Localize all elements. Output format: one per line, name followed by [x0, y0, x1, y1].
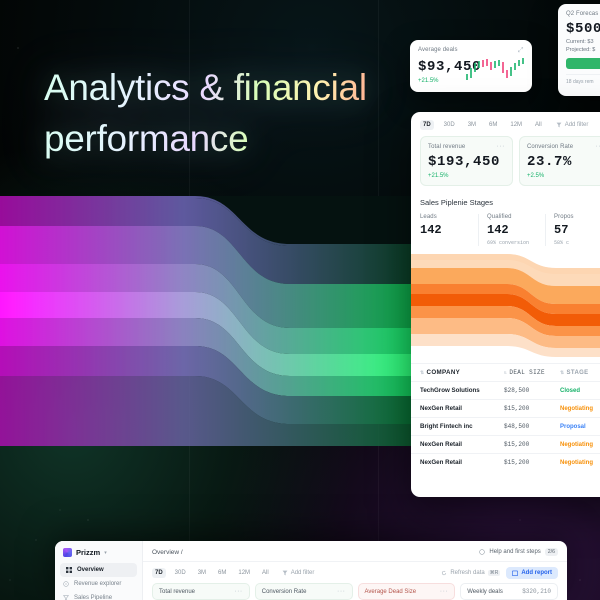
sort-icon: ⇅: [420, 370, 425, 376]
stage-label: Leads: [420, 214, 470, 220]
kpi-value: 23.7%: [527, 154, 600, 170]
help-button[interactable]: Help and first steps 2/6: [479, 548, 558, 556]
sidebar-item-label: Overview: [77, 567, 104, 573]
q2-forecast-title: Q2 Forecas: [566, 11, 600, 17]
kpi-label: Conversion Rate: [527, 144, 573, 150]
app-actionbar: 7D 30D 3M 6M 12M All Add filter: [143, 562, 567, 583]
q2-projected: Projected: $: [566, 47, 600, 53]
cell-company: NexGen Retail: [420, 441, 504, 448]
chevron-down-icon[interactable]: ▾: [104, 550, 107, 556]
weekly-deals-card[interactable]: Weekly deals $320,210: [460, 583, 558, 600]
stream-chart: [411, 252, 600, 357]
app-filter-pill-3m[interactable]: 3M: [195, 568, 209, 578]
funnel-icon: [556, 122, 562, 128]
app-add-filter-button[interactable]: Add filter: [282, 570, 315, 576]
funnel-icon: [63, 595, 69, 600]
refresh-shortcut: ⌘R: [488, 570, 501, 576]
filter-pill-30d[interactable]: 30D: [441, 120, 458, 130]
filter-pill-12m[interactable]: 12M: [507, 120, 525, 130]
app-kpi-label: Average Dead Size: [365, 589, 417, 595]
cell-deal-size: $28,500: [504, 387, 560, 394]
sidebar-item-sales-pipeline[interactable]: Sales Pipeline: [55, 591, 142, 600]
app-filter-pill-all[interactable]: All: [259, 568, 272, 578]
stage-label: Qualified: [487, 214, 537, 220]
filter-pill-7d[interactable]: 7D: [420, 120, 434, 130]
cell-deal-size: $15,200: [504, 405, 560, 412]
cell-stage: Negotiating: [560, 442, 600, 448]
cell-deal-size: $15,200: [504, 441, 560, 448]
breadcrumb[interactable]: Overview /: [152, 549, 183, 556]
app-kpi-label: Conversion Rate: [262, 589, 307, 595]
add-filter-label: Add filter: [565, 122, 589, 128]
table-row[interactable]: NexGen Retail $15,200 Negotiating: [411, 399, 600, 417]
kpi-change: +2.5%: [527, 173, 600, 179]
filter-pill-6m[interactable]: 6M: [486, 120, 500, 130]
column-header-deal-size[interactable]: ⇅DEAL SIZE: [504, 369, 560, 376]
panel-filter-bar: 7D 30D 3M 6M 12M All Add filter: [411, 112, 600, 136]
sidebar-item-label: Sales Pipeline: [74, 595, 112, 600]
stage-value: 142: [487, 223, 537, 237]
q2-days-remaining: 18 days rem: [566, 74, 600, 85]
table-row[interactable]: NexGen Retail $15,200 Negotiating: [411, 453, 600, 471]
gradient-ribbon-graphic: [0, 196, 420, 446]
app-filter-pill-6m[interactable]: 6M: [215, 568, 229, 578]
more-icon[interactable]: ···: [337, 588, 346, 595]
app-main: Overview / Help and first steps 2/6 7D 3…: [143, 541, 567, 600]
kpi-conversion-rate[interactable]: Conversion Rate ··· 23.7% +2.5%: [519, 136, 600, 186]
cell-company: NexGen Retail: [420, 405, 504, 412]
q2-forecast-card[interactable]: Q2 Forecas $500,0 Current: $3 Projected:…: [558, 4, 600, 96]
help-label: Help and first steps: [489, 549, 540, 555]
filter-pill-all[interactable]: All: [532, 120, 545, 130]
cell-deal-size: $48,500: [504, 423, 560, 430]
stage-conversion: 58% c: [554, 240, 600, 246]
table-header-row: ⇅COMPANY ⇅DEAL SIZE ⇅STAGE: [411, 363, 600, 381]
pipeline-stages-section: Sales Piplenie Stages Leads 142 Qualifie…: [411, 194, 600, 246]
add-filter-button[interactable]: Add filter: [556, 122, 589, 128]
cell-company: NexGen Retail: [420, 459, 504, 466]
stage-qualified: Qualified 142 69% conversion: [479, 214, 546, 246]
app-sidebar: Prizzm ▾ Overview Revenue explorer: [55, 541, 143, 600]
cell-company: TechGrow Solutions: [420, 387, 504, 394]
filter-pill-3m[interactable]: 3M: [465, 120, 479, 130]
compass-icon: [63, 581, 69, 587]
q2-progress-bar: [566, 58, 600, 69]
candlestick-chart: [464, 54, 526, 84]
page-title: Analytics & financial performance: [44, 62, 404, 164]
cell-deal-size: $15,200: [504, 459, 560, 466]
pipeline-stages-title: Sales Piplenie Stages: [420, 198, 600, 207]
cell-company: Bright Fintech inc: [420, 423, 504, 430]
weekly-deals-value: $320,210: [522, 588, 551, 595]
more-icon[interactable]: ···: [440, 588, 449, 595]
average-deals-label: Average deals: [418, 47, 458, 53]
stage-value: 142: [420, 223, 470, 237]
brand-switcher[interactable]: Prizzm ▾: [55, 541, 142, 563]
help-circle-icon: [479, 549, 485, 555]
add-report-button[interactable]: Add report: [506, 567, 558, 579]
cell-stage: Proposal: [560, 424, 600, 430]
column-header-company[interactable]: ⇅COMPANY: [420, 369, 504, 376]
add-report-label: Add report: [521, 570, 552, 576]
analytics-panel: 7D 30D 3M 6M 12M All Add filter Total re…: [411, 112, 600, 497]
more-icon[interactable]: ···: [497, 143, 506, 150]
grid-icon: [66, 567, 72, 573]
refresh-label: Refresh data: [450, 570, 484, 576]
kpi-label: Total revenue: [428, 144, 465, 150]
app-window: Prizzm ▾ Overview Revenue explorer: [55, 541, 567, 600]
table-row[interactable]: Bright Fintech inc $48,500 Proposal: [411, 417, 600, 435]
stage-value: 57: [554, 223, 600, 237]
more-icon[interactable]: ···: [596, 143, 600, 150]
stage-conversion: 69% conversion: [487, 240, 537, 246]
app-kpi-label: Total revenue: [159, 589, 195, 595]
kpi-value: $193,450: [428, 154, 505, 170]
sidebar-item-label: Revenue explorer: [74, 581, 121, 587]
app-filter-pill-7d[interactable]: 7D: [152, 568, 166, 578]
weekly-deals-label: Weekly deals: [467, 589, 503, 595]
calendar-plus-icon: [512, 570, 518, 576]
sidebar-item-overview[interactable]: Overview: [60, 563, 137, 577]
kpi-row: Total revenue ··· $193,450 +21.5% Conver…: [411, 136, 600, 194]
deals-table: ⇅COMPANY ⇅DEAL SIZE ⇅STAGE TechGrow Solu…: [411, 363, 600, 471]
app-filter-bar: 7D 30D 3M 6M 12M All Add filter: [152, 568, 314, 578]
stage-label: Propos: [554, 214, 600, 220]
app-kpi-total-revenue[interactable]: Total revenue ···: [152, 583, 250, 600]
page-stage: Analytics & financial performance: [0, 0, 600, 600]
more-icon[interactable]: ···: [234, 588, 243, 595]
cell-stage: Negotiating: [560, 460, 600, 466]
average-deals-card[interactable]: Average deals ⤢ $93,450 +21.5%: [410, 40, 532, 92]
sort-icon: ⇅: [560, 370, 565, 376]
app-kpi-conversion-rate[interactable]: Conversion Rate ···: [255, 583, 353, 600]
refresh-icon: [441, 570, 447, 576]
prizzm-logo-icon: [63, 548, 72, 557]
help-progress-count: 2/6: [545, 548, 558, 556]
cell-stage: Negotiating: [560, 406, 600, 412]
app-kpi-average-dead-size[interactable]: Average Dead Size ···: [358, 583, 456, 600]
kpi-total-revenue[interactable]: Total revenue ··· $193,450 +21.5%: [420, 136, 513, 186]
table-row[interactable]: TechGrow Solutions $28,500 Closed: [411, 381, 600, 399]
sort-icon: ⇅: [504, 370, 507, 376]
brand-name: Prizzm: [76, 548, 100, 557]
app-topbar: Overview / Help and first steps 2/6: [143, 541, 567, 562]
refresh-data-button[interactable]: Refresh data ⌘R: [441, 570, 500, 576]
funnel-icon: [282, 570, 288, 576]
table-row[interactable]: NexGen Retail $15,200 Negotiating: [411, 435, 600, 453]
stage-leads: Leads 142: [420, 214, 479, 246]
app-filter-pill-12m[interactable]: 12M: [235, 568, 253, 578]
kpi-change: +21.5%: [428, 173, 505, 179]
app-filter-pill-30d[interactable]: 30D: [172, 568, 189, 578]
q2-current: Current: $3: [566, 39, 600, 45]
sidebar-item-revenue-explorer[interactable]: Revenue explorer: [55, 577, 142, 591]
cell-stage: Closed: [560, 388, 600, 394]
stage-proposal: Propos 57 58% c: [546, 214, 600, 246]
app-kpi-row: Total revenue ··· Conversion Rate ··· Av…: [143, 583, 567, 600]
app-add-filter-label: Add filter: [291, 570, 315, 576]
q2-forecast-value: $500,0: [566, 21, 600, 37]
column-header-stage[interactable]: ⇅STAGE: [560, 370, 600, 376]
